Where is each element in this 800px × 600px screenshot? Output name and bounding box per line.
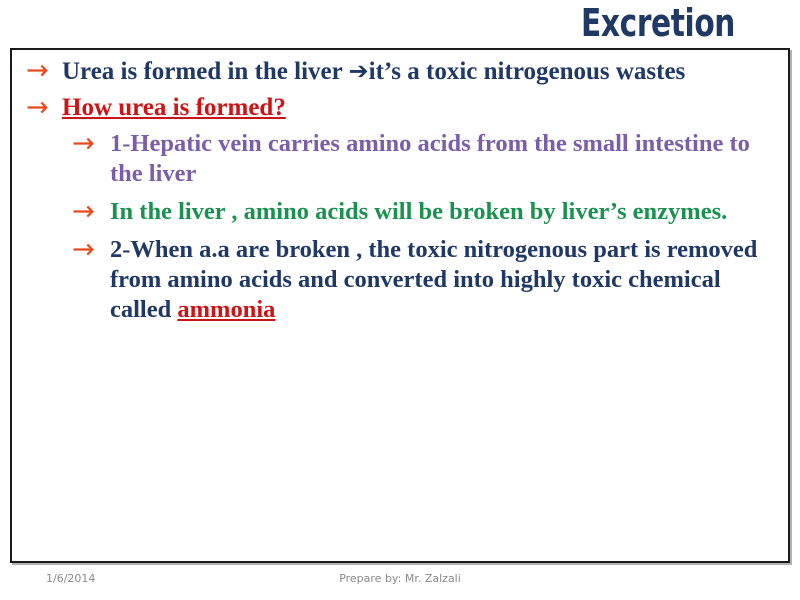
bullet-segment-text: Urea is formed in the liver bbox=[62, 58, 349, 85]
arrow-right-icon: → bbox=[26, 93, 46, 123]
bullet-text: 1-Hepatic vein carries amino acids from … bbox=[110, 130, 750, 187]
bullet-item-ammonia-conversion: → 2-When a.a are broken , the toxic nitr… bbox=[18, 235, 782, 325]
bullet-item-how-urea-formed: → How urea is formed? bbox=[18, 93, 782, 123]
bullet-text: Urea is formed in the liver ➔it’s a toxi… bbox=[62, 58, 685, 85]
bullet-text-question: How urea is formed? bbox=[62, 94, 286, 121]
bullet-item-liver-enzymes: → In the liver , amino acids will be bro… bbox=[18, 197, 782, 227]
footer-author: Prepare by: Mr. Zalzali bbox=[0, 572, 800, 585]
bullet-item-urea-definition: → Urea is formed in the liver ➔it’s a to… bbox=[18, 56, 782, 87]
inline-arrow-right-icon: ➔ bbox=[349, 57, 369, 85]
arrow-right-icon: → bbox=[72, 197, 92, 227]
highlight-term-ammonia: ammonia bbox=[177, 296, 275, 323]
arrow-right-icon: → bbox=[26, 56, 46, 86]
bullet-segment-text: it’s a toxic nitrogenous wastes bbox=[369, 58, 686, 85]
bullet-text: In the liver , amino acids will be broke… bbox=[110, 198, 727, 225]
bullet-text: 2-When a.a are broken , the toxic nitrog… bbox=[110, 236, 757, 323]
arrow-right-icon: → bbox=[72, 235, 92, 265]
arrow-right-icon: → bbox=[72, 129, 92, 159]
page-title: Excretion bbox=[162, 2, 735, 44]
bullet-item-hepatic-vein: → 1-Hepatic vein carries amino acids fro… bbox=[18, 129, 782, 189]
content-placeholder: → Urea is formed in the liver ➔it’s a to… bbox=[10, 48, 790, 563]
slide-footer: 1/6/2014 Prepare by: Mr. Zalzali bbox=[0, 570, 800, 594]
